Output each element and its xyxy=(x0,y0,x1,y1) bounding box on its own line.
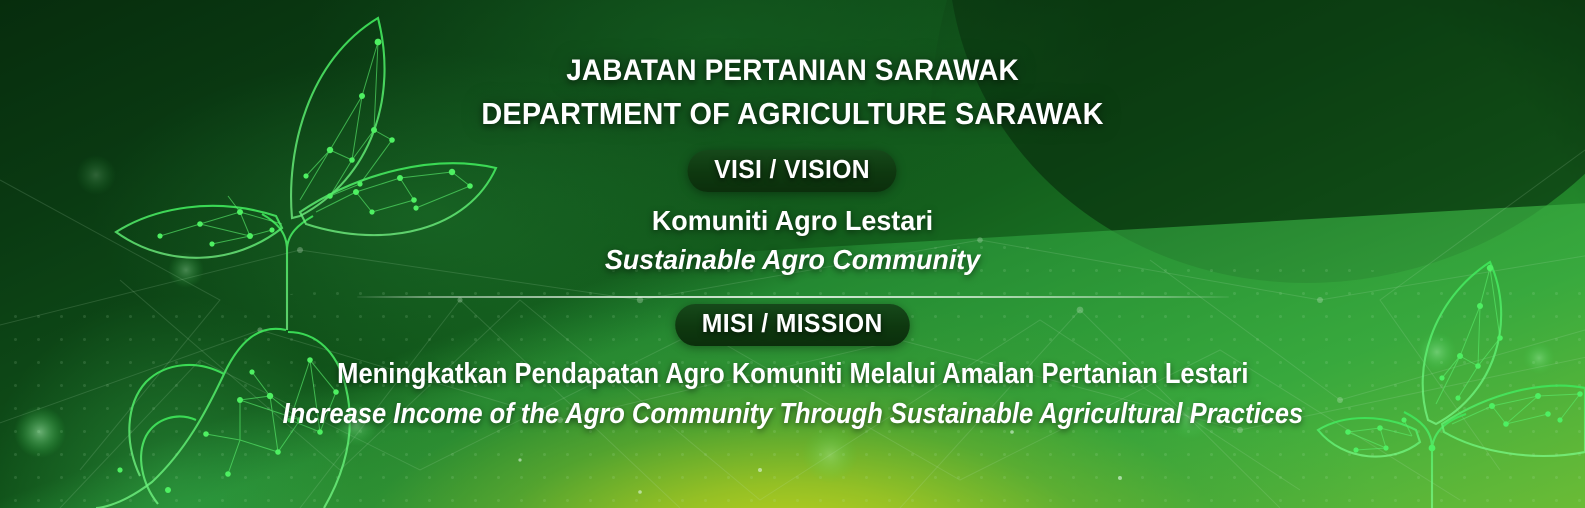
mission-badge: MISI / MISSION xyxy=(675,304,909,346)
vision-section: VISI / VISION Komuniti Agro Lestari Sust… xyxy=(597,150,988,276)
vision-statement-en: Sustainable Agro Community xyxy=(605,244,980,276)
organization-title: JABATAN PERTANIAN SARAWAK DEPARTMENT OF … xyxy=(458,54,1127,131)
vision-statement-bm: Komuniti Agro Lestari xyxy=(605,205,980,237)
vision-badge: VISI / VISION xyxy=(688,150,897,192)
vision-mission-banner: JABATAN PERTANIAN SARAWAK DEPARTMENT OF … xyxy=(0,0,1585,508)
mission-section: MISI / MISSION Meningkatkan Pendapatan A… xyxy=(213,304,1373,431)
mission-statement-en: Increase Income of the Agro Community Th… xyxy=(282,398,1303,431)
org-name-bm: JABATAN PERTANIAN SARAWAK xyxy=(481,54,1103,88)
org-name-en: DEPARTMENT OF AGRICULTURE SARAWAK xyxy=(481,97,1103,132)
section-divider xyxy=(357,296,1229,298)
mission-statement-bm: Meningkatkan Pendapatan Agro Komuniti Me… xyxy=(282,358,1303,391)
